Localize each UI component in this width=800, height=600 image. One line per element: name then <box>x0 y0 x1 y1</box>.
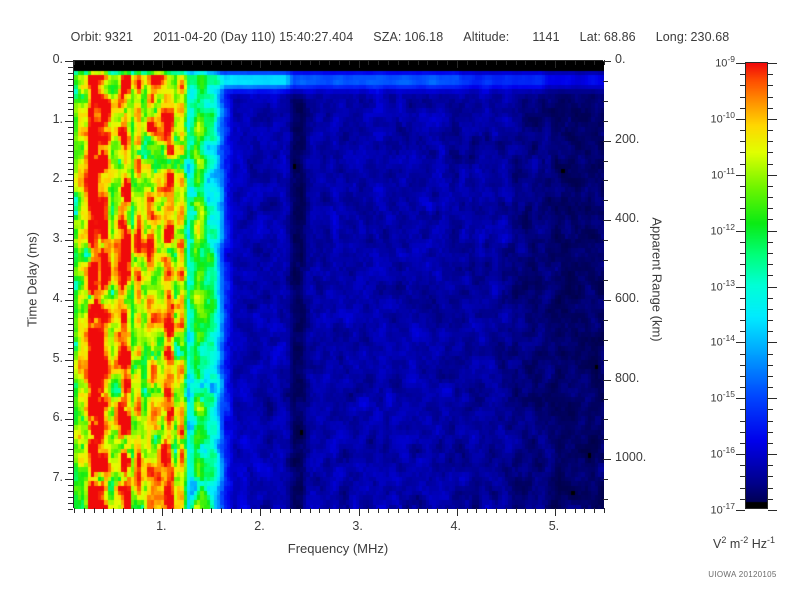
header-metadata: Orbit:93212011-04-20 (Day 110) 15:40:27.… <box>0 30 800 44</box>
x-tick-3.6 <box>418 508 419 513</box>
x-tick-0.5 <box>113 508 114 513</box>
y-right-tick-700 <box>603 340 608 341</box>
colorbar-tick-right-38 <box>768 488 773 489</box>
colorbar-label-exponent: -10 <box>723 110 735 120</box>
colorbar-tick-right-2 <box>768 85 773 86</box>
y-left-tick-3.0 <box>65 240 73 241</box>
y-left-tick-4.0 <box>65 300 73 301</box>
colorbar-tick-right-37 <box>768 476 773 477</box>
x-tick-2.7 <box>329 508 330 513</box>
orbit-value: 9321 <box>105 30 133 44</box>
altitude-value: 1141 <box>532 30 559 44</box>
y-left-tick-0.4 <box>68 85 73 86</box>
x-tick-top-1.5 <box>211 60 212 65</box>
x-tick-top-3.3 <box>388 60 389 65</box>
y-left-tick-1.3 <box>68 139 73 140</box>
y-left-tick-4.3 <box>68 318 73 319</box>
x-tick-3.7 <box>427 508 428 513</box>
x-tick-label-4: 4. <box>431 519 481 533</box>
y-left-tick-2.6 <box>68 216 73 217</box>
y-right-tick-300 <box>603 180 608 181</box>
colorbar-tick-left-4 <box>740 108 745 109</box>
x-tick-0.7 <box>133 508 134 513</box>
x-tick-5.4 <box>594 508 595 513</box>
y-right-tick-550 <box>603 280 608 281</box>
x-tick-top-1.6 <box>221 60 222 65</box>
colorbar-tick-left-16 <box>740 242 745 243</box>
x-tick-3.4 <box>398 508 399 513</box>
colorbar-tick-right-9 <box>768 164 773 165</box>
colorbar-tick-right-3 <box>768 97 773 98</box>
x-tick-1.2 <box>182 508 183 513</box>
lat-label: Lat: <box>580 30 601 44</box>
colorbar-tick-label--14: 10-14 <box>683 333 735 349</box>
x-tick-top-4.6 <box>516 60 517 65</box>
x-tick-top-5.0 <box>555 60 556 68</box>
units-hertz-exp: -1 <box>767 535 775 545</box>
x-tick-top-0.9 <box>153 60 154 65</box>
x-tick-top-3.1 <box>368 60 369 65</box>
x-tick-1.6 <box>221 508 222 513</box>
y-left-tick-4.1 <box>68 306 73 307</box>
colorbar-tick-left-40 <box>736 510 745 511</box>
y-right-tick-750 <box>603 360 608 361</box>
x-tick-1.7 <box>231 508 232 513</box>
x-tick-label-2: 2. <box>234 519 284 533</box>
x-tick-1.0 <box>162 508 163 516</box>
x-tick-0.3 <box>94 508 95 513</box>
colorbar-tick-left-38 <box>740 488 745 489</box>
colorbar-tick-left-36 <box>740 465 745 466</box>
colorbar-label-mantissa: 10 <box>710 505 722 517</box>
colorbar-tick-right-15 <box>768 231 777 232</box>
y-left-tick-6.4 <box>68 443 73 444</box>
x-tick-2.6 <box>319 508 320 513</box>
y-left-tick-6.1 <box>68 425 73 426</box>
x-tick-1.1 <box>172 508 173 513</box>
y-left-tick-1.7 <box>68 163 73 164</box>
colorbar-label-mantissa: 10 <box>710 225 722 237</box>
colorbar-tick-right-29 <box>768 387 773 388</box>
x-tick-top-2.0 <box>260 60 261 68</box>
x-tick-top-0.6 <box>123 60 124 65</box>
colorbar-label-mantissa: 10 <box>710 449 722 461</box>
y-left-tick-4.9 <box>68 354 73 355</box>
x-tick-top-2.9 <box>349 60 350 65</box>
colorbar-tick-left-0 <box>736 63 745 64</box>
y-left-tick-6.8 <box>68 467 73 468</box>
colorbar-tick-right-16 <box>768 242 773 243</box>
x-tick-top-0.7 <box>133 60 134 65</box>
y-left-tick-6.3 <box>68 437 73 438</box>
y-left-tick-3.1 <box>68 246 73 247</box>
x-tick-top-4.5 <box>506 60 507 65</box>
x-tick-top-0.1 <box>74 60 75 65</box>
x-tick-4.6 <box>516 508 517 513</box>
y-left-tick-7.0 <box>65 479 73 480</box>
colorbar-tick-right-21 <box>768 298 773 299</box>
credit-footer: UIOWA 20120105 <box>690 570 795 579</box>
x-tick-4.7 <box>525 508 526 513</box>
y-right-tick-100 <box>603 101 608 102</box>
colorbar-label-mantissa: 10 <box>710 337 722 349</box>
x-tick-top-1.1 <box>172 60 173 65</box>
y-left-tick-3.4 <box>68 264 73 265</box>
y-left-tick-5.0 <box>65 360 73 361</box>
colorbar-tick-right-31 <box>768 409 773 410</box>
colorbar-tick-right-22 <box>768 309 773 310</box>
x-tick-4.1 <box>467 508 468 513</box>
colorbar-tick-left-23 <box>740 320 745 321</box>
x-tick-4.3 <box>486 508 487 513</box>
y-left-tick-5.8 <box>68 407 73 408</box>
x-tick-5.2 <box>575 508 576 513</box>
x-tick-0.6 <box>123 508 124 513</box>
x-tick-2.4 <box>300 508 301 513</box>
y-left-tick-4.7 <box>68 342 73 343</box>
y-left-tick-3.3 <box>68 258 73 259</box>
altitude-label: Altitude: <box>463 30 509 44</box>
x-tick-top-5.2 <box>575 60 576 65</box>
x-tick-3.1 <box>368 508 369 513</box>
y-left-tick-5.5 <box>68 390 73 391</box>
x-tick-top-2.3 <box>290 60 291 65</box>
colorbar-tick-right-27 <box>768 365 773 366</box>
x-tick-top-0.2 <box>84 60 85 65</box>
y-left-tick-0.1 <box>68 67 73 68</box>
colorbar-tick-left-17 <box>740 253 745 254</box>
colorbar-tick-left-29 <box>740 387 745 388</box>
colorbar-tick-right-25 <box>768 342 777 343</box>
x-tick-top-0.8 <box>143 60 144 65</box>
colorbar-label-exponent: -9 <box>727 54 735 64</box>
colorbar-tick-right-34 <box>768 443 773 444</box>
y-right-tick-1100 <box>603 499 608 500</box>
colorbar-label-mantissa: 10 <box>710 393 722 405</box>
colorbar-tick-left-33 <box>740 432 745 433</box>
x-tick-5.1 <box>565 508 566 513</box>
x-tick-2.5 <box>310 508 311 513</box>
x-tick-top-2.8 <box>339 60 340 65</box>
colorbar-tick-left-11 <box>740 186 745 187</box>
colorbar-tick-left-24 <box>740 331 745 332</box>
y-left-tick-0.6 <box>68 97 73 98</box>
y-left-tick-3.6 <box>68 276 73 277</box>
x-tick-top-4.1 <box>467 60 468 65</box>
x-tick-top-5.3 <box>584 60 585 65</box>
x-tick-4.2 <box>476 508 477 513</box>
colorbar-tick-left-8 <box>740 152 745 153</box>
colorbar-tick-right-5 <box>768 119 777 120</box>
y-left-tick-3.8 <box>68 288 73 289</box>
x-tick-3.5 <box>408 508 409 513</box>
colorbar-tick-right-19 <box>768 275 773 276</box>
colorbar-tick-left-32 <box>740 421 745 422</box>
ionogram-plot-area[interactable] <box>73 60 603 508</box>
colorbar-tick-right-6 <box>768 130 773 131</box>
y-left-tick-1.0 <box>65 121 73 122</box>
colorbar-tick-left-20 <box>736 287 745 288</box>
x-tick-top-1.9 <box>251 60 252 65</box>
y-left-tick-3.9 <box>68 294 73 295</box>
y-right-tick-50 <box>603 81 608 82</box>
colorbar-tick-label--10: 10-10 <box>683 110 735 126</box>
y-left-tick-3.5 <box>68 270 73 271</box>
colorbar-tick-left-6 <box>740 130 745 131</box>
colorbar-tick-left-19 <box>740 275 745 276</box>
x-tick-1.3 <box>192 508 193 513</box>
y-left-tick-2.8 <box>68 228 73 229</box>
x-tick-top-2.7 <box>329 60 330 65</box>
x-tick-top-0.5 <box>113 60 114 65</box>
x-tick-top-3.2 <box>378 60 379 65</box>
colorbar-tick-left-34 <box>740 443 745 444</box>
y-left-tick-5.9 <box>68 413 73 414</box>
y-right-tick-450 <box>603 240 608 241</box>
x-tick-5.5 <box>604 508 605 513</box>
colorbar-tick-left-26 <box>740 354 745 355</box>
colorbar-tick-right-13 <box>768 208 773 209</box>
lat-value: 68.86 <box>604 30 636 44</box>
colorbar-tick-left-39 <box>740 499 745 500</box>
colorbar-tick-left-13 <box>740 208 745 209</box>
colorbar-tick-left-7 <box>740 141 745 142</box>
colorbar-tick-left-3 <box>740 97 745 98</box>
y-right-tick-1050 <box>603 479 608 480</box>
colorbar-tick-left-14 <box>740 219 745 220</box>
y-left-tick-2.5 <box>68 210 73 211</box>
colorbar-label-exponent: -11 <box>723 166 735 176</box>
x-tick-top-4.7 <box>525 60 526 65</box>
colorbar-tick-right-28 <box>768 376 773 377</box>
y-left-tick-6.2 <box>68 431 73 432</box>
y-left-tick-5.2 <box>68 372 73 373</box>
x-tick-1.4 <box>202 508 203 513</box>
y-axis-left-title: Time Delay (ms) <box>25 185 40 375</box>
y-right-tick-label-1000: 1000. <box>615 450 663 464</box>
colorbar-label-mantissa: 10 <box>710 281 722 293</box>
colorbar-tick-left-27 <box>740 365 745 366</box>
y-right-tick-800 <box>603 380 611 381</box>
units-hertz: Hz <box>748 537 767 551</box>
y-left-tick-6.6 <box>68 455 73 456</box>
colorbar-tick-left-21 <box>740 298 745 299</box>
y-right-tick-150 <box>603 121 608 122</box>
x-tick-top-2.5 <box>310 60 311 65</box>
colorbar-tick-right-17 <box>768 253 773 254</box>
y-left-tick-label-7: 7. <box>23 470 63 484</box>
colorbar-tick-right-23 <box>768 320 773 321</box>
y-right-tick-950 <box>603 439 608 440</box>
colorbar[interactable] <box>745 62 768 509</box>
y-right-tick-200 <box>603 141 611 142</box>
colorbar-tick-label--17: 10-17 <box>683 501 735 517</box>
colorbar-label-mantissa: 10 <box>711 169 723 181</box>
y-right-tick-900 <box>603 419 608 420</box>
y-left-tick-2.2 <box>68 192 73 193</box>
colorbar-tick-left-30 <box>736 398 745 399</box>
y-left-tick-0.3 <box>68 79 73 80</box>
y-left-tick-7.2 <box>68 491 73 492</box>
y-right-tick-label-200: 200. <box>615 132 663 146</box>
y-left-tick-2.3 <box>68 198 73 199</box>
x-tick-top-2.4 <box>300 60 301 65</box>
colorbar-label-mantissa: 10 <box>710 114 722 126</box>
colorbar-tick-right-40 <box>768 510 777 511</box>
x-tick-top-3.0 <box>359 60 360 68</box>
colorbar-label-exponent: -13 <box>723 278 735 288</box>
x-tick-0.4 <box>103 508 104 513</box>
colorbar-tick-left-9 <box>740 164 745 165</box>
y-left-tick-0.5 <box>68 91 73 92</box>
colorbar-tick-label--11: 10-11 <box>683 166 735 182</box>
x-tick-top-5.4 <box>594 60 595 65</box>
y-left-tick-5.3 <box>68 378 73 379</box>
x-tick-2.9 <box>349 508 350 513</box>
colorbar-tick-left-1 <box>740 74 745 75</box>
x-tick-top-1.8 <box>241 60 242 65</box>
y-right-tick-850 <box>603 399 608 400</box>
colorbar-tick-right-33 <box>768 432 773 433</box>
y-left-tick-2.4 <box>68 204 73 205</box>
x-tick-top-3.6 <box>418 60 419 65</box>
ionogram-heatmap-canvas <box>74 61 604 509</box>
y-left-tick-4.6 <box>68 336 73 337</box>
x-tick-5.0 <box>555 508 556 516</box>
colorbar-tick-right-11 <box>768 186 773 187</box>
colorbar-label-exponent: -16 <box>723 445 735 455</box>
y-left-tick-2.9 <box>68 234 73 235</box>
colorbar-tick-left-12 <box>740 197 745 198</box>
colorbar-label-mantissa: 10 <box>715 58 727 70</box>
x-tick-top-3.8 <box>437 60 438 65</box>
x-tick-top-3.7 <box>427 60 428 65</box>
colorbar-tick-right-39 <box>768 499 773 500</box>
x-tick-2.3 <box>290 508 291 513</box>
y-left-tick-1.5 <box>68 151 73 152</box>
y-left-tick-1.4 <box>68 145 73 146</box>
colorbar-tick-left-35 <box>736 454 745 455</box>
y-left-tick-1.2 <box>68 133 73 134</box>
x-tick-4.5 <box>506 508 507 513</box>
x-tick-top-4.0 <box>457 60 458 68</box>
colorbar-tick-left-37 <box>740 476 745 477</box>
y-right-tick-label-0: 0. <box>615 52 663 66</box>
x-tick-2.8 <box>339 508 340 513</box>
x-tick-4.8 <box>535 508 536 513</box>
y-left-tick-2.1 <box>68 186 73 187</box>
colorbar-tick-right-24 <box>768 331 773 332</box>
orbit-label: Orbit: <box>71 30 102 44</box>
y-left-tick-4.2 <box>68 312 73 313</box>
x-axis-title: Frequency (MHz) <box>73 541 603 556</box>
y-right-tick-650 <box>603 320 608 321</box>
colorbar-tick-right-10 <box>768 175 777 176</box>
x-tick-3.3 <box>388 508 389 513</box>
x-tick-top-4.9 <box>545 60 546 65</box>
colorbar-tick-right-4 <box>768 108 773 109</box>
colorbar-label-exponent: -17 <box>723 501 735 511</box>
y-right-tick-400 <box>603 220 611 221</box>
colorbar-tick-right-0 <box>768 63 777 64</box>
colorbar-units-label: V2 m-2 Hz-1 <box>690 535 798 551</box>
colorbar-tick-left-5 <box>736 119 745 120</box>
x-tick-3.0 <box>359 508 360 516</box>
y-left-tick-5.6 <box>68 396 73 397</box>
x-tick-2.2 <box>280 508 281 513</box>
y-left-tick-6.5 <box>68 449 73 450</box>
colorbar-tick-right-8 <box>768 152 773 153</box>
x-tick-3.8 <box>437 508 438 513</box>
y-left-tick-label-0: 0. <box>23 52 63 66</box>
long-value: 230.68 <box>690 30 729 44</box>
colorbar-tick-left-18 <box>740 264 745 265</box>
y-right-tick-250 <box>603 161 608 162</box>
colorbar-tick-right-30 <box>768 398 777 399</box>
x-tick-top-4.3 <box>486 60 487 65</box>
y-left-tick-0.8 <box>68 109 73 110</box>
y-right-tick-0 <box>603 61 611 62</box>
colorbar-tick-left-15 <box>736 231 745 232</box>
x-tick-1.9 <box>251 508 252 513</box>
sza-value: 106.18 <box>404 30 443 44</box>
y-left-tick-6.9 <box>68 473 73 474</box>
x-tick-1.8 <box>241 508 242 513</box>
x-tick-top-4.2 <box>476 60 477 65</box>
x-tick-label-5: 5. <box>529 519 579 533</box>
colorbar-tick-right-7 <box>768 141 773 142</box>
y-left-tick-0.9 <box>68 115 73 116</box>
x-tick-top-3.4 <box>398 60 399 65</box>
x-tick-top-4.8 <box>535 60 536 65</box>
x-tick-top-4.4 <box>496 60 497 65</box>
x-tick-4.4 <box>496 508 497 513</box>
x-tick-top-2.2 <box>280 60 281 65</box>
x-tick-top-1.3 <box>192 60 193 65</box>
units-meters: m <box>726 537 740 551</box>
colorbar-tick-left-25 <box>736 342 745 343</box>
x-tick-label-3: 3. <box>333 519 383 533</box>
colorbar-tick-label--9: 10-9 <box>683 54 735 70</box>
x-tick-top-3.5 <box>408 60 409 65</box>
colorbar-gradient <box>745 62 768 509</box>
y-left-tick-5.1 <box>68 366 73 367</box>
colorbar-label-exponent: -12 <box>723 222 735 232</box>
y-left-tick-7.3 <box>68 497 73 498</box>
x-tick-top-5.1 <box>565 60 566 65</box>
x-tick-label-1: 1. <box>136 519 186 533</box>
colorbar-tick-left-22 <box>740 309 745 310</box>
sza-label: SZA: <box>373 30 401 44</box>
colorbar-tick-label--16: 10-16 <box>683 445 735 461</box>
x-tick-0.1 <box>74 508 75 513</box>
y-left-tick-4.8 <box>68 348 73 349</box>
y-left-tick-label-6: 6. <box>23 410 63 424</box>
y-left-tick-1.6 <box>68 157 73 158</box>
y-left-tick-0.0 <box>65 61 73 62</box>
y-left-tick-1.1 <box>68 127 73 128</box>
colorbar-tick-left-10 <box>736 175 745 176</box>
x-tick-top-2.1 <box>270 60 271 65</box>
colorbar-tick-right-20 <box>768 287 777 288</box>
colorbar-tick-right-26 <box>768 354 773 355</box>
x-tick-5.3 <box>584 508 585 513</box>
x-tick-3.2 <box>378 508 379 513</box>
y-left-tick-5.7 <box>68 401 73 402</box>
x-tick-2.1 <box>270 508 271 513</box>
x-tick-top-1.0 <box>162 60 163 68</box>
x-tick-top-3.9 <box>447 60 448 65</box>
